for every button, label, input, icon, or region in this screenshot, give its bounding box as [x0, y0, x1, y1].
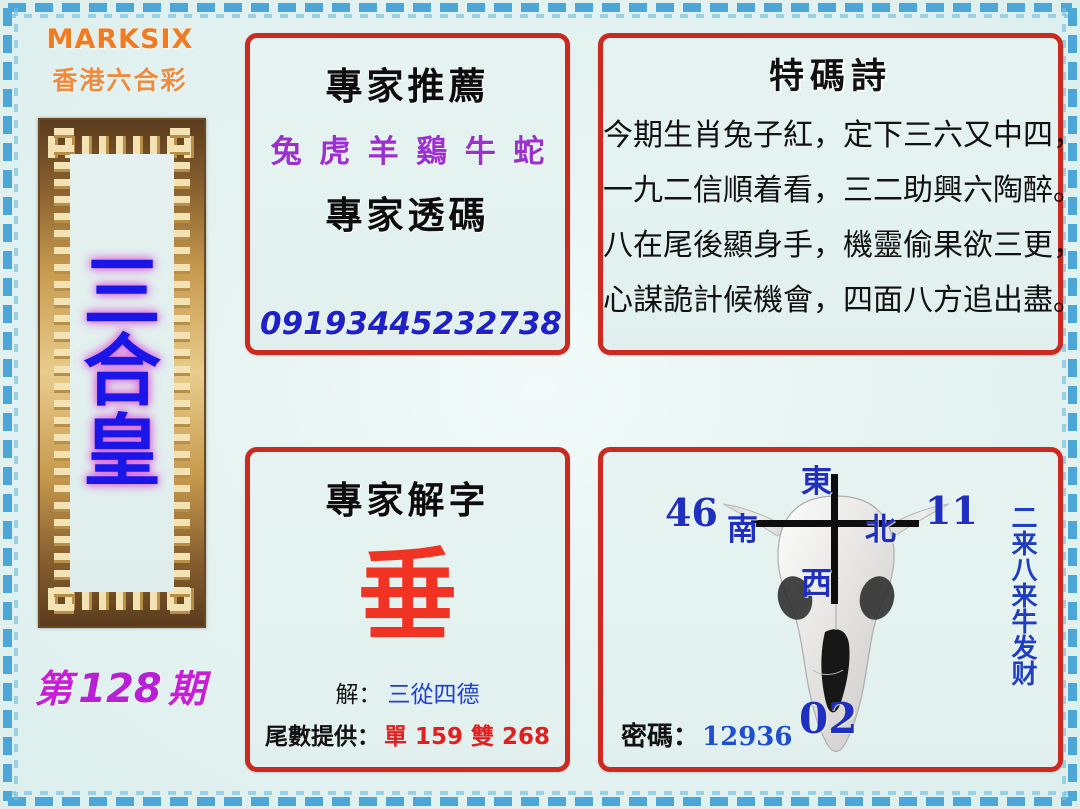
lottery-number: 19: [303, 306, 346, 342]
scroll-char-2: 合: [83, 333, 161, 413]
skull-number-bottom: 02: [799, 694, 857, 743]
direction-east: 東: [801, 456, 832, 501]
word-interpretation-panel: 專家解字 垂 解：三從四德 尾數提供：單 159 雙 268: [245, 447, 570, 772]
skull-number-right: 11: [925, 488, 978, 533]
poster-root: MARKSIX 香港六合彩 三 合 皇 第128期 專家推薦 兔 虎 羊 鷄 牛…: [0, 0, 1080, 809]
lottery-number: 23: [433, 306, 476, 342]
word-panel-title: 專家解字: [250, 470, 565, 524]
poem-panel-title: 特碼詩: [603, 48, 1058, 99]
frame-bottom-dashes-inner: [8, 791, 1072, 795]
tail-number-label: 尾數提供：: [265, 724, 380, 750]
direction-north: 北: [865, 504, 896, 549]
zodiac-row: 兔 虎 羊 鷄 牛 蛇: [262, 126, 553, 171]
featured-character: 垂: [250, 546, 565, 646]
zodiac-item: 鷄: [416, 126, 447, 171]
scroll-char-1: 三: [83, 254, 161, 334]
tail-number-row: 尾數提供：單 159 雙 268: [250, 717, 565, 751]
code-value: 12936: [699, 722, 792, 752]
zodiac-item: 牛: [465, 126, 496, 171]
skull-compass-panel: 東 南 北 西 46 11 02 二来八来牛发财 密碼：12936: [598, 447, 1063, 772]
lottery-number: 38: [519, 306, 562, 342]
issue-suffix: 期: [168, 667, 206, 711]
scroll-char-3: 皇: [83, 413, 161, 493]
special-number-poem-panel: 特碼詩 今期生肖兔子紅，定下三六又中四， 一九二信順着看，三二助興六陶醉。 八在…: [598, 33, 1063, 355]
lottery-number-row: 09 19 34 45 23 27 38: [250, 306, 565, 342]
zodiac-item: 兔: [271, 126, 302, 171]
compass-cross-vertical: [831, 474, 838, 604]
poem-line: 一九二信順着看，三二助興六陶醉。: [603, 165, 1058, 209]
expert-recommendation-panel: 專家推薦 兔 虎 羊 鷄 牛 蛇 專家透碼 09 19 34 45 23 27 …: [245, 33, 570, 355]
lottery-number: 45: [389, 306, 432, 342]
poem-line: 心謀詭計候機會，四面八方追出盡。: [603, 275, 1058, 319]
direction-west: 西: [801, 558, 832, 603]
expert-panel-title: 專家推薦: [250, 56, 565, 110]
tail-number-value: 單 159 雙 268: [380, 724, 550, 750]
lottery-number: 34: [346, 306, 389, 342]
skull-vertical-slogan: 二来八来牛发财: [1004, 504, 1038, 686]
frame-bottom-dashes: [8, 797, 1072, 806]
frame-top-dashes: [8, 3, 1072, 12]
poem-line: 今期生肖兔子紅，定下三六又中四，: [603, 110, 1058, 154]
issue-prefix: 第: [34, 667, 72, 711]
zodiac-item: 虎: [319, 126, 350, 171]
scroll-inner-area: 三 合 皇: [70, 154, 174, 592]
code-row: 密碼：12936: [621, 716, 792, 753]
word-explanation-row: 解：三從四德: [250, 675, 565, 709]
zodiac-item: 羊: [368, 126, 399, 171]
skull-number-left: 46: [665, 490, 718, 535]
skull-image-area: 東 南 北 西 46 11 02 二来八来牛发财 密碼：12936: [603, 452, 1058, 767]
code-label: 密碼：: [621, 722, 699, 752]
direction-south: 南: [727, 504, 758, 549]
brand-column: MARKSIX 香港六合彩 三 合 皇 第128期: [14, 18, 226, 788]
word-explanation-value: 三從四德: [382, 682, 480, 708]
zodiac-item: 蛇: [513, 126, 544, 171]
issue-number: 128: [72, 666, 168, 712]
ornate-scroll-frame: 三 合 皇: [38, 118, 206, 628]
poem-line: 八在尾後顯身手，機靈偷果欲三更，: [603, 220, 1058, 264]
brand-chinese-title: 香港六合彩: [14, 61, 226, 97]
expert-panel-subtitle: 專家透碼: [250, 185, 565, 239]
word-explanation-label: 解：: [336, 682, 382, 708]
brand-english-title: MARKSIX: [14, 24, 226, 55]
issue-label: 第128期: [14, 658, 226, 713]
lottery-number: 27: [476, 306, 519, 342]
lottery-number: 09: [260, 306, 303, 342]
frame-left-dashes: [3, 8, 12, 801]
